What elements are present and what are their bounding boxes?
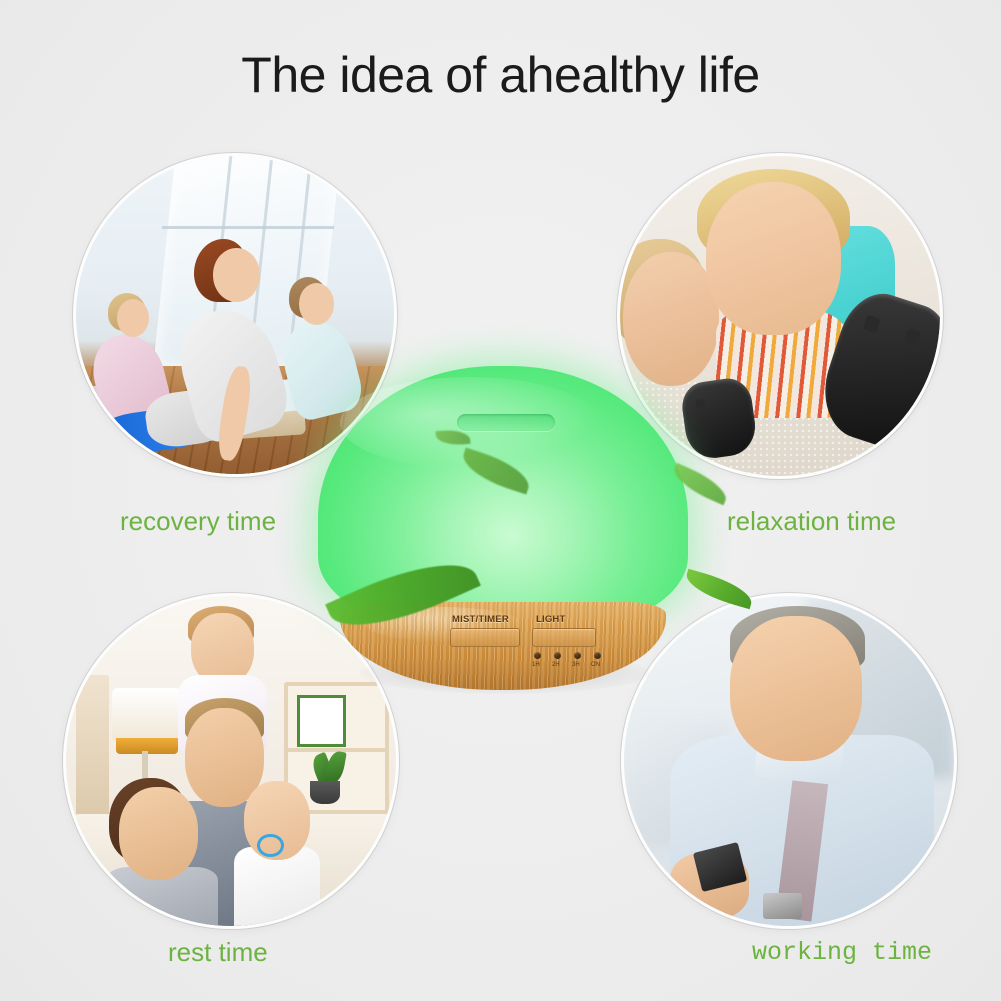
head [213,248,261,302]
led-indicator-on [594,652,601,659]
mist-outlet-vent [457,414,555,431]
product-poster: The idea of ahealthy life [0,0,1001,1001]
light-button[interactable] [532,628,596,647]
control-panel: MIST/TIMER LIGHT 1H 2H 3H ON [448,614,608,680]
plant-pot [310,781,340,804]
boy-head [706,182,840,336]
head [730,616,862,761]
aroma-diffuser-product: MIST/TIMER LIGHT 1H 2H 3H ON [318,366,688,700]
baby-teether-toy [257,834,283,857]
led-indicator-1h [534,652,541,659]
mist-timer-button[interactable] [450,628,520,647]
caption-recovery: recovery time [120,506,276,536]
caption-relaxation: relaxation time [727,506,896,536]
led-indicator-3h [574,652,581,659]
led-label-1h: 1H [532,662,540,668]
shelf-left [76,675,109,820]
lamp-shade [112,688,181,741]
mist-timer-label: MIST/TIMER [452,614,509,625]
wristwatch [763,893,803,919]
light-label: LIGHT [536,614,566,625]
controller-button [904,328,922,346]
led-label-on: ON [591,662,600,668]
page-title: The idea of ahealthy life [0,44,1001,106]
controller-button [695,399,705,408]
mother-head [119,787,198,879]
led-indicator-2h [554,652,561,659]
controller-button [862,315,880,333]
led-label-3h: 3H [572,662,580,668]
caption-rest: rest time [168,937,268,967]
picture-frame [297,695,346,747]
caption-working: working time [752,938,932,968]
led-label-2h: 2H [552,662,560,668]
